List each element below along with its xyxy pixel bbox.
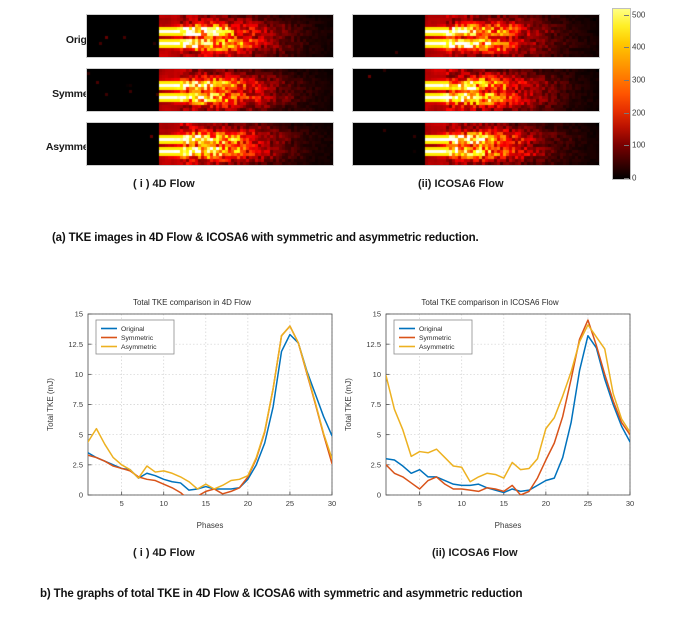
tke-image-4dflow-original <box>86 14 334 58</box>
x-tick-label: 20 <box>542 499 550 508</box>
legend-label-asymmetric: Asymmetric <box>419 344 455 351</box>
colorbar-tick-mark <box>624 113 629 114</box>
chart-svg: Total TKE comparison in 4D Flow02.557.51… <box>42 292 342 537</box>
x-tick-label: 15 <box>202 499 210 508</box>
x-tick-label: 25 <box>286 499 294 508</box>
colorbar-tick-mark <box>624 178 629 179</box>
y-tick-label: 10 <box>373 370 381 379</box>
y-tick-label: 15 <box>373 310 381 319</box>
tke-image-icosa6-original <box>352 14 600 58</box>
y-tick-label: 5 <box>79 430 83 439</box>
tke-canvas <box>353 15 599 57</box>
x-tick-label: 10 <box>160 499 168 508</box>
colorbar-tick-mark <box>624 15 629 16</box>
x-tick-label: 30 <box>328 499 336 508</box>
chart-svg: Total TKE comparison in ICOSA6 Flow02.55… <box>340 292 640 537</box>
y-tick-label: 5 <box>377 430 381 439</box>
y-tick-label: 2.5 <box>371 460 381 469</box>
colorbar-tick-label: 0 <box>632 174 636 183</box>
y-tick-label: 0 <box>377 491 381 500</box>
x-tick-label: 10 <box>458 499 466 508</box>
legend-label-symmetric: Symmetric <box>121 335 154 342</box>
legend-label-original: Original <box>121 326 145 333</box>
tke-canvas <box>87 123 333 165</box>
tke-canvas <box>353 69 599 111</box>
x-axis-label: Phases <box>197 521 224 530</box>
tke-images-panel: Original Symmetric Asymmetric ( i ) 4D F… <box>0 0 680 205</box>
subcaption-a-icosa6: (ii) ICOSA6 Flow <box>418 178 504 190</box>
tke-image-4dflow-asymmetric <box>86 122 334 166</box>
x-tick-label: 15 <box>500 499 508 508</box>
colorbar-tick-label: 400 <box>632 43 645 52</box>
colorbar: 5004003002001000 <box>612 8 674 186</box>
chart-title: Total TKE comparison in 4D Flow <box>133 298 251 307</box>
colorbar-tick-label: 200 <box>632 108 645 117</box>
y-tick-label: 2.5 <box>73 460 83 469</box>
y-tick-label: 7.5 <box>73 400 83 409</box>
colorbar-tick-mark <box>624 145 629 146</box>
caption-b: b) The graphs of total TKE in 4D Flow & … <box>40 588 522 600</box>
colorbar-tick-label: 500 <box>632 10 645 19</box>
tke-canvas <box>87 15 333 57</box>
y-tick-label: 7.5 <box>371 400 381 409</box>
chart-title: Total TKE comparison in ICOSA6 Flow <box>421 298 558 307</box>
tke-image-4dflow-symmetric <box>86 68 334 112</box>
x-tick-label: 20 <box>244 499 252 508</box>
legend-label-asymmetric: Asymmetric <box>121 344 157 351</box>
chart-4dflow: Total TKE comparison in 4D Flow02.557.51… <box>42 292 342 537</box>
y-tick-label: 15 <box>75 310 83 319</box>
tke-image-icosa6-symmetric <box>352 68 600 112</box>
legend-label-original: Original <box>419 326 443 333</box>
colorbar-gradient <box>612 8 631 180</box>
tke-charts-panel: Total TKE comparison in 4D Flow02.557.51… <box>0 292 680 577</box>
colorbar-tick-mark <box>624 80 629 81</box>
y-tick-label: 0 <box>79 491 83 500</box>
x-tick-label: 25 <box>584 499 592 508</box>
tke-image-icosa6-asymmetric <box>352 122 600 166</box>
subcaption-b-icosa6: (ii) ICOSA6 Flow <box>432 547 518 559</box>
x-axis-label: Phases <box>495 521 522 530</box>
colorbar-tick-mark <box>624 47 629 48</box>
y-axis-label: Total TKE (mJ) <box>46 378 55 431</box>
subcaption-b-4dflow: ( i ) 4D Flow <box>133 547 195 559</box>
tke-canvas <box>87 69 333 111</box>
y-tick-label: 12.5 <box>366 340 381 349</box>
x-tick-label: 30 <box>626 499 634 508</box>
tke-canvas <box>353 123 599 165</box>
colorbar-tick-label: 300 <box>632 75 645 84</box>
y-tick-label: 12.5 <box>68 340 83 349</box>
y-axis-label: Total TKE (mJ) <box>344 378 353 431</box>
subcaption-a-4dflow: ( i ) 4D Flow <box>133 178 195 190</box>
chart-icosa6: Total TKE comparison in ICOSA6 Flow02.55… <box>340 292 640 537</box>
caption-a: (a) TKE images in 4D Flow & ICOSA6 with … <box>52 232 479 244</box>
y-tick-label: 10 <box>75 370 83 379</box>
x-tick-label: 5 <box>418 499 422 508</box>
colorbar-tick-label: 100 <box>632 141 645 150</box>
x-tick-label: 5 <box>120 499 124 508</box>
legend-label-symmetric: Symmetric <box>419 335 452 342</box>
